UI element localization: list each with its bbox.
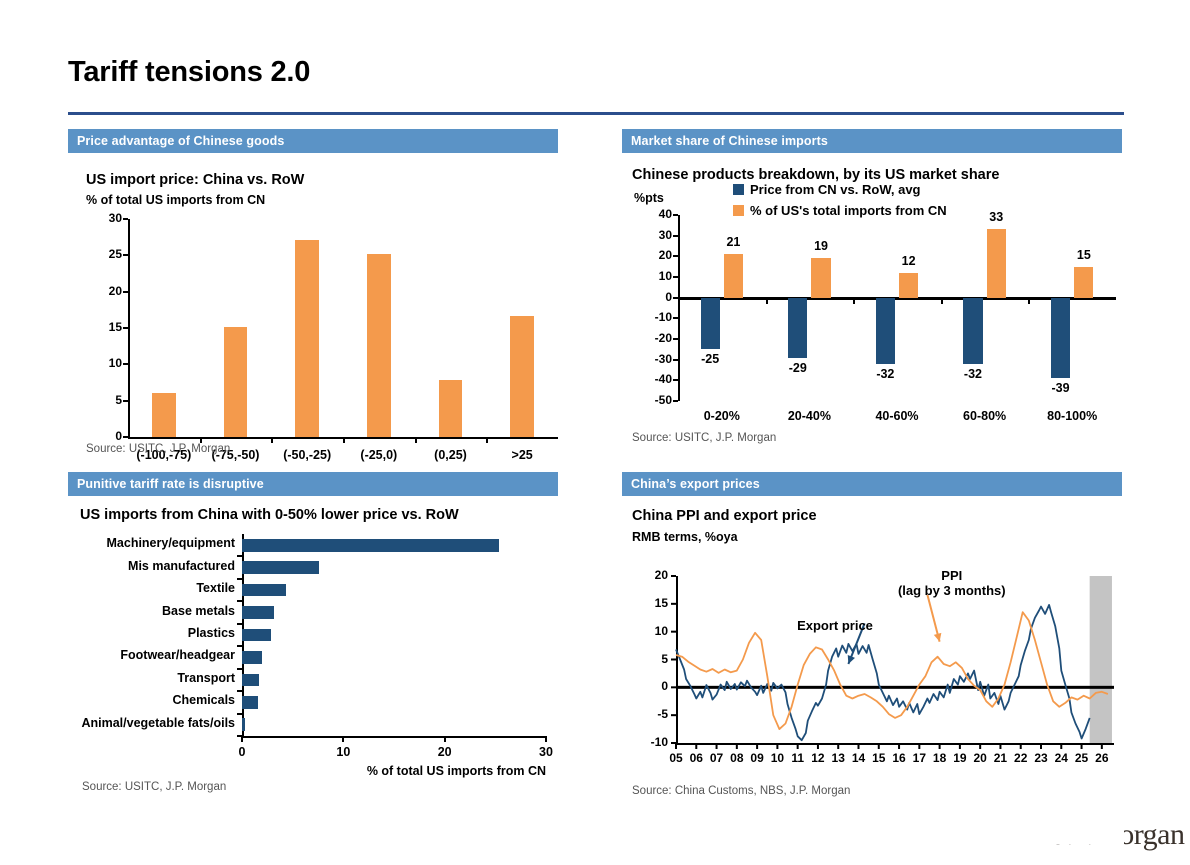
chart4-y-tick [671,714,676,716]
chart2-legend-swatch [733,205,744,216]
panel-header-price-advantage: Price advantage of Chinese goods [68,129,558,153]
chart2-y-tick [673,255,678,257]
chart4-y-tick-label: 20 [632,568,668,582]
chart3-bar [242,606,274,619]
chart4-ppi-arrow [927,595,941,642]
chart3-y-label: Footwear/headgear [70,648,235,662]
chart2-bar [724,254,743,297]
chart2-x-tick [853,298,855,304]
chart4-x-tick [999,743,1001,749]
slide-root: Tariff tensions 2.0 Price advantage of C… [0,0,1190,865]
chart2-y-tick-label: -40 [636,372,672,386]
chart4-plot: 20151050-5-10050607080910111213141516171… [632,548,1122,783]
chart2-y-tick [673,359,678,361]
chart4-y-tick-label: -10 [632,735,668,749]
chart2-bar [701,298,720,350]
chart1-y-tick-label: 0 [90,429,122,443]
chart2-y-tick-label: -10 [636,310,672,324]
chart2-x-tick [1028,298,1030,304]
chart4-y-tick-label: 0 [632,679,668,693]
chart3-y-label: Transport [70,671,235,685]
chart2-bar [1074,267,1093,298]
chart2-source: Source: USITC, J.P. Morgan [632,432,776,444]
chart3-bar [242,539,499,552]
chart3-title: US imports from China with 0-50% lower p… [80,507,459,523]
chart4-x-tick [776,743,778,749]
chart2-y-tick [673,276,678,278]
chart4-x-tick [716,743,718,749]
chart4-x-tick [858,743,860,749]
chart1-subtitle: % of total US imports from CN [86,193,265,207]
chart4-x-tick [756,743,758,749]
chart2-title: Chinese products breakdown, by its US ma… [632,167,999,183]
chart4-x-tick [878,743,880,749]
chart1-y-tick-label: 5 [90,393,122,407]
chart2-y-tick-label: 10 [636,269,672,283]
panel-header-export-prices: China’s export prices [622,472,1122,496]
chart2-bar-value: -25 [682,352,738,366]
chart4-x-tick [1101,743,1103,749]
chart2-y-tick [673,297,678,299]
chart2-bar-value: 33 [968,210,1024,224]
chart1-x-tick [486,437,488,443]
chart4-source: Source: China Customs, NBS, J.P. Morgan [632,785,850,797]
chart3-y-label: Plastics [70,626,235,640]
panel-header-punitive-tariff: Punitive tariff rate is disruptive [68,472,558,496]
page-title: Tariff tensions 2.0 [68,56,310,89]
chart4-x-axis [676,743,1114,745]
chart4-x-tick [979,743,981,749]
chart4-subtitle: RMB terms, %oya [632,530,738,544]
chart1-x-tick [415,437,417,443]
chart2-y-tick [673,214,678,216]
chart4-x-tick [675,743,677,749]
chart1-bar [510,316,534,437]
chart1-y-tick [123,327,128,329]
chart2-y-tick-label: 30 [636,228,672,242]
chart4-annotation-ppi: PPI(lag by 3 months) [882,569,1022,599]
chart3-y-label: Animal/vegetable fats/oils [70,716,235,730]
chart1-source: Source: USITC, J.P. Morgan [86,443,230,455]
chart4-x-tick [918,743,920,749]
chart3-bar [242,561,319,574]
chart2-y-tick [673,400,678,402]
chart4-annotation-ppi-line2: (lag by 3 months) [882,584,1022,599]
chart1-bar [367,254,391,437]
chart2-y-tick-label: -30 [636,352,672,366]
chart3-x-tick-label: 10 [323,745,363,759]
chart2-bar-value: 12 [881,254,937,268]
chart3-y-label: Chemicals [70,693,235,707]
chart3-bar [242,629,271,642]
chart1-x-label: >25 [462,448,582,462]
chart2-legend-item[interactable]: Price from CN vs. RoW, avg [733,182,921,197]
chart3-x-tick [342,736,344,742]
chart3-y-tick [237,578,242,580]
chart3-y-tick [237,555,242,557]
chart4-y-tick-label: -5 [632,707,668,721]
chart2-x-label: 80-100% [1017,409,1127,423]
chart2-bar-value: 15 [1056,248,1112,262]
chart2-x-tick [941,298,943,304]
chart2-y-tick-label: 20 [636,248,672,262]
chart3-y-tick [237,645,242,647]
logo-crop-mask [1050,818,1124,844]
chart3-x-axis-title: % of total US imports from CN [242,764,546,778]
chart4-annotation-ppi-line1: PPI [882,569,1022,584]
chart1-y-tick-label: 15 [90,320,122,334]
chart4-annotation-export-price: Export price [780,619,890,634]
chart4-x-tick [959,743,961,749]
chart4-x-tick [1020,743,1022,749]
chart2-legend-swatch [733,184,744,195]
chart4-svg [632,548,1122,783]
chart3-x-tick-label: 0 [222,745,262,759]
chart4-y-axis [676,576,678,743]
chart4-x-tick [736,743,738,749]
chart4-x-tick [817,743,819,749]
chart3-bar [242,584,286,597]
chart4-y-tick [671,631,676,633]
chart4-y-tick-label: 10 [632,624,668,638]
chart3-y-tick [237,735,242,737]
chart3-y-label: Mis manufactured [70,559,235,573]
chart1-y-axis [128,219,130,437]
chart3-bar [242,651,262,664]
chart2-y-tick-label: 0 [636,290,672,304]
chart4-y-tick [671,659,676,661]
chart3-x-tick [444,736,446,742]
panel-header-market-share: Market share of Chinese imports [622,129,1122,153]
title-divider [68,112,1124,115]
chart3-y-label: Machinery/equipment [70,536,235,550]
chart2-y-tick-label: -20 [636,331,672,345]
chart1-y-tick-label: 25 [90,247,122,261]
chart1-x-tick [271,437,273,443]
chart1-bar [152,393,176,437]
chart4-x-tick [1081,743,1083,749]
chart2-y-axis [678,215,680,401]
chart2-y-tick [673,317,678,319]
chart1-x-tick [343,437,345,443]
chart4-title: China PPI and export price [632,508,817,524]
chart2-bar [963,298,982,364]
chart2-y-tick [673,379,678,381]
chart2-legend-item[interactable]: % of US's total imports from CN [733,203,947,218]
chart4-x-tick [695,743,697,749]
chart3-bar [242,718,245,731]
chart4-x-tick [898,743,900,749]
chart2-bar-value: 21 [705,235,761,249]
chart3-source: Source: USITC, J.P. Morgan [82,781,226,793]
chart3-y-tick [237,623,242,625]
chart3-y-tick [237,690,242,692]
chart4-x-tick-label: 26 [1088,751,1116,765]
chart1-y-tick [123,400,128,402]
chart4-y-tick [671,603,676,605]
chart4-x-tick [1060,743,1062,749]
chart2-bar-value: -29 [770,361,826,375]
chart4-x-tick [837,743,839,749]
chart1-y-tick [123,363,128,365]
chart3-bar [242,674,259,687]
chart2-bar-value: -32 [857,367,913,381]
chart3-x-tick [545,736,547,742]
chart2-bar-value: 19 [793,239,849,253]
chart4-x-tick [1040,743,1042,749]
chart1-y-tick [123,254,128,256]
chart2-bar [1051,298,1070,379]
chart4-x-tick [797,743,799,749]
chart1-plot: 051015202530(-100,-75)(-75,-50)(-50,-25)… [86,213,566,473]
chart2-y-tick-label: -50 [636,393,672,407]
chart1-y-tick-label: 10 [90,356,122,370]
chart2-units-label: %pts [634,191,664,205]
chart4-y-tick [671,575,676,577]
chart3-x-axis [242,736,546,738]
chart2-y-tick [673,338,678,340]
chart4-forecast-band [1090,576,1112,743]
chart3-bar [242,696,258,709]
chart1-y-tick-label: 30 [90,211,122,225]
chart2-bar [987,229,1006,297]
chart3-y-label: Textile [70,581,235,595]
chart2-legend-label: % of US's total imports from CN [750,203,947,218]
chart4-y-tick-label: 5 [632,652,668,666]
chart2-x-tick [766,298,768,304]
chart1-y-tick [123,436,128,438]
chart2-bar-value: -39 [1033,381,1089,395]
chart2-bar [811,258,830,297]
chart2-y-tick-label: 40 [636,207,672,221]
chart1-bar [439,380,463,437]
chart2-bar [788,298,807,358]
chart3-y-label: Base metals [70,604,235,618]
chart4-series-line [676,612,1108,729]
chart4-x-tick [939,743,941,749]
chart1-bar [224,327,248,437]
chart2-plot: %pts403020100-10-20-30-40-50Price from C… [632,185,1122,445]
chart2-legend-label: Price from CN vs. RoW, avg [750,182,921,197]
chart2-bar [899,273,918,298]
chart3-y-tick [237,713,242,715]
chart1-title: US import price: China vs. RoW [86,172,304,188]
chart2-bar [876,298,895,364]
chart1-y-tick [123,291,128,293]
chart3-x-tick-label: 30 [526,745,566,759]
chart3-y-tick [237,668,242,670]
chart2-y-tick [673,235,678,237]
chart1-y-tick [123,218,128,220]
chart4-y-tick [671,686,676,688]
chart2-bar-value: -32 [945,367,1001,381]
chart4-y-tick-label: 15 [632,596,668,610]
chart1-bar [295,240,319,437]
chart3-plot: 0102030Machinery/equipmentMis manufactur… [70,528,570,778]
chart1-y-tick-label: 20 [90,284,122,298]
chart3-y-tick [237,600,242,602]
chart3-x-tick-label: 20 [425,745,465,759]
